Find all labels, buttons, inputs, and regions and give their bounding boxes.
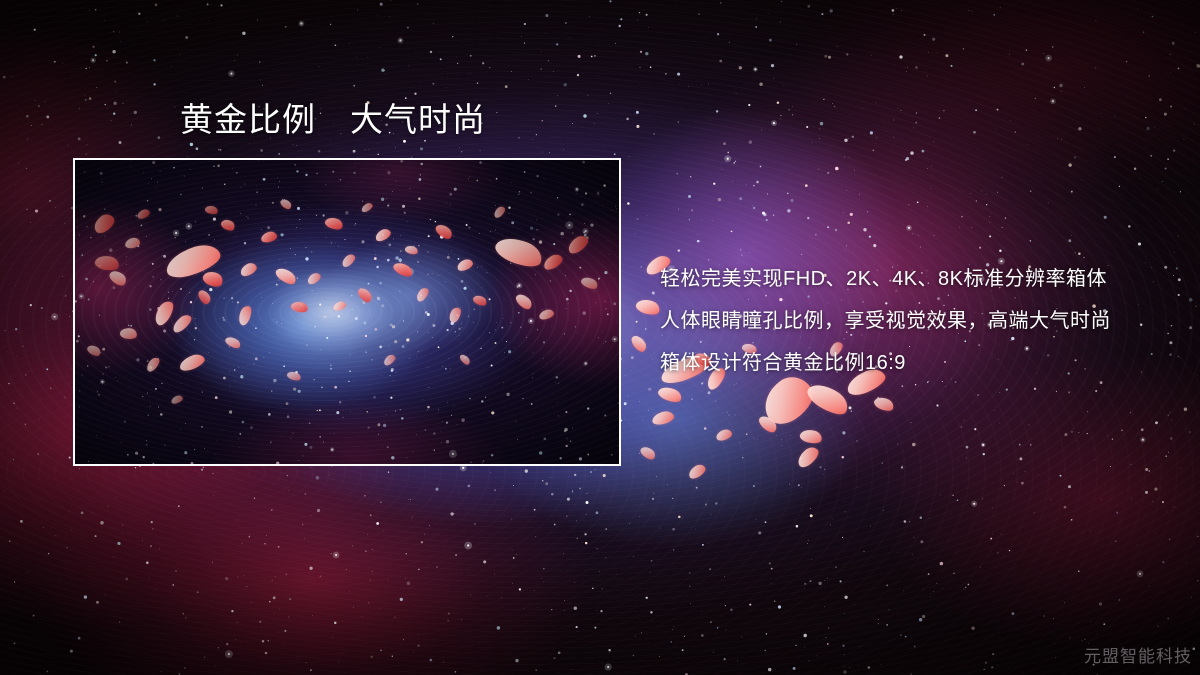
- petal: [804, 378, 853, 420]
- petal: [686, 462, 707, 481]
- petal: [715, 428, 733, 442]
- petal: [799, 428, 823, 446]
- presentation-slide: 黄金比例 大气时尚 轻松完美实现FHD、2K、4K、8K标准分辨率箱体 人体眼睛…: [0, 0, 1200, 675]
- inner-photo: [75, 160, 619, 464]
- petal: [794, 444, 821, 470]
- body-line-2: 人体眼睛瞳孔比例，享受视觉效果，高端大气时尚: [660, 300, 1180, 342]
- petal: [634, 297, 661, 318]
- petal: [639, 444, 658, 462]
- petal: [872, 394, 895, 413]
- inner-vignette: [75, 160, 619, 464]
- petal: [656, 384, 683, 405]
- petal: [629, 333, 648, 354]
- watermark-label: 元盟智能科技: [1084, 642, 1192, 667]
- framed-product-image: [73, 158, 621, 466]
- slide-title: 黄金比例 大气时尚: [180, 100, 486, 140]
- petal: [651, 410, 675, 426]
- body-line-3: 箱体设计符合黄金比例16:9: [660, 342, 1180, 384]
- body-line-1: 轻松完美实现FHD、2K、4K、8K标准分辨率箱体: [660, 258, 1180, 300]
- body-text-block: 轻松完美实现FHD、2K、4K、8K标准分辨率箱体 人体眼睛瞳孔比例，享受视觉效…: [660, 258, 1180, 384]
